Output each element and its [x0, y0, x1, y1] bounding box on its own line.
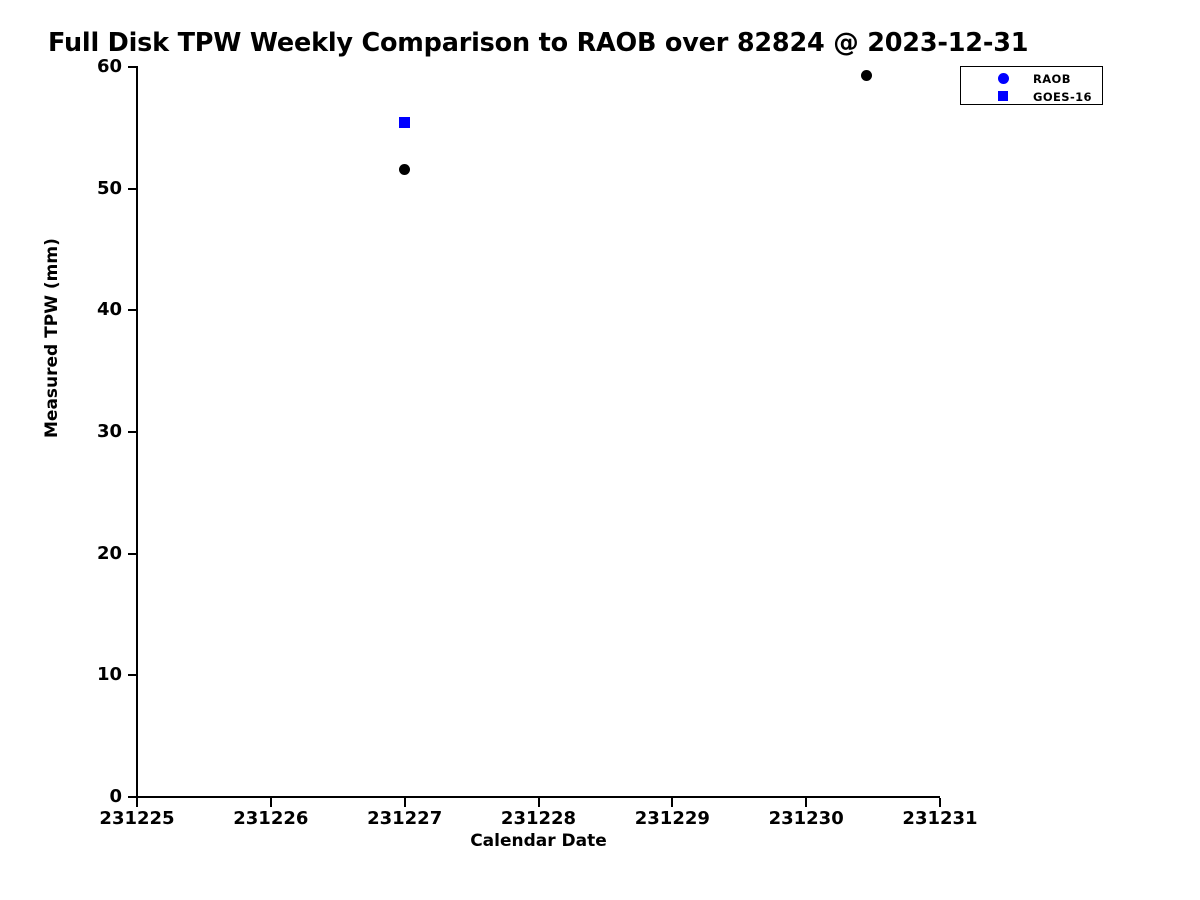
- y-tick-mark: [128, 674, 137, 676]
- x-axis-label: Calendar Date: [137, 831, 940, 851]
- legend-item-raob[interactable]: RAOB: [961, 70, 1102, 87]
- y-axis-label: Measured TPW (mm): [42, 278, 62, 438]
- chart-figure: Full Disk TPW Weekly Comparison to RAOB …: [0, 0, 1200, 900]
- x-tick-label: 231230: [736, 808, 876, 830]
- y-tick-label: 20: [42, 545, 122, 563]
- x-tick-mark: [270, 798, 272, 807]
- legend-marker-slot: [997, 88, 1011, 105]
- x-tick-mark: [136, 798, 138, 807]
- legend-item-goes-16[interactable]: GOES-16: [961, 88, 1102, 105]
- legend-label: RAOB: [1033, 72, 1071, 86]
- y-tick-mark: [128, 309, 137, 311]
- x-tick-label: 231226: [201, 808, 341, 830]
- chart-legend[interactable]: RAOBGOES-16: [960, 66, 1103, 105]
- legend-square-icon: [998, 91, 1008, 101]
- x-tick-label: 231228: [469, 808, 609, 830]
- data-point-raob: [861, 70, 872, 81]
- y-tick-mark: [128, 431, 137, 433]
- x-tick-label: 231231: [870, 808, 1010, 830]
- x-tick-label: 231225: [67, 808, 207, 830]
- chart-title: Full Disk TPW Weekly Comparison to RAOB …: [48, 28, 1028, 58]
- x-tick-mark: [404, 798, 406, 807]
- legend-circle-icon: [998, 73, 1009, 84]
- x-tick-mark: [671, 798, 673, 807]
- legend-marker-slot: [997, 70, 1011, 87]
- y-tick-mark: [128, 66, 137, 68]
- data-point-goes-16: [399, 117, 410, 128]
- x-tick-label: 231227: [335, 808, 475, 830]
- x-tick-mark: [939, 798, 941, 807]
- y-tick-mark: [128, 553, 137, 555]
- y-tick-label: 10: [42, 666, 122, 684]
- x-tick-label: 231229: [602, 808, 742, 830]
- data-point-raob: [399, 164, 410, 175]
- x-tick-mark: [805, 798, 807, 807]
- y-tick-label: 0: [42, 788, 122, 806]
- x-tick-mark: [538, 798, 540, 807]
- plot-area: [137, 67, 940, 797]
- legend-label: GOES-16: [1033, 90, 1092, 104]
- y-tick-mark: [128, 188, 137, 190]
- y-tick-label: 50: [42, 180, 122, 198]
- y-tick-label: 60: [42, 58, 122, 76]
